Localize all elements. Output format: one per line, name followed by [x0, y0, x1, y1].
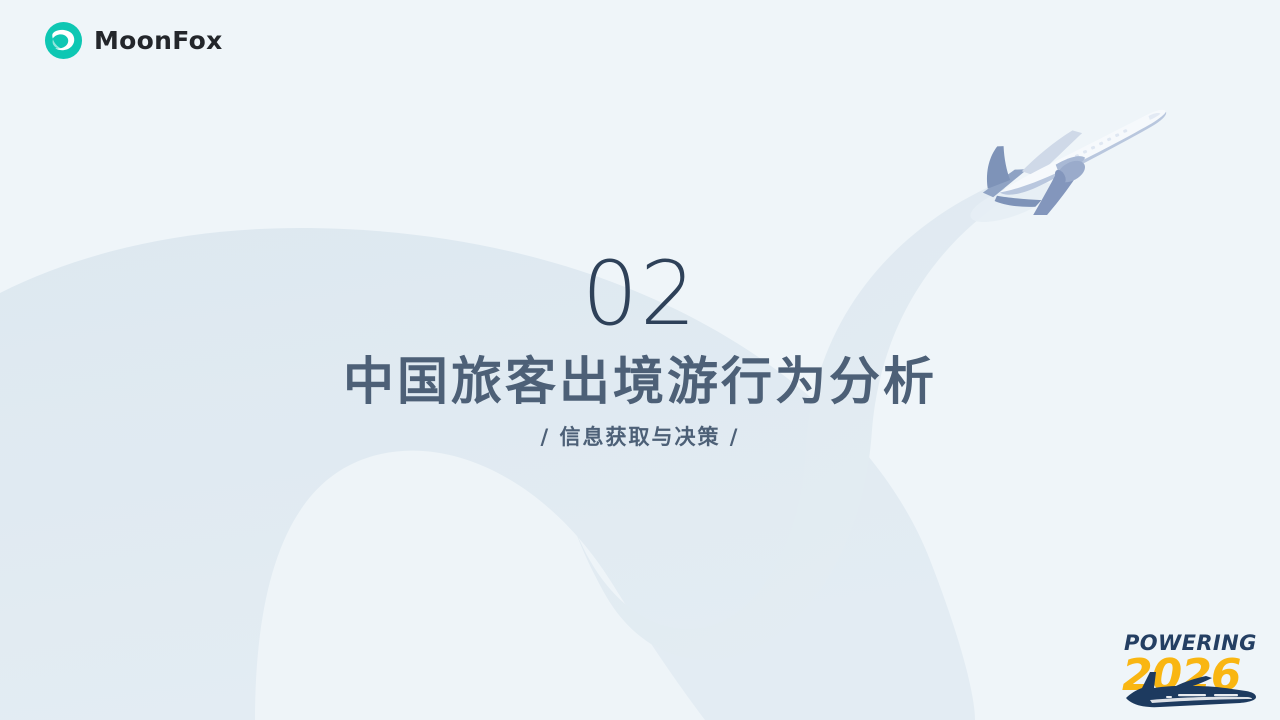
section-text-block: 02 中国旅客出境游行为分析 / 信息获取与决策 /: [0, 250, 1280, 450]
section-number: 02: [0, 250, 1280, 338]
slide-canvas: MoonFox: [0, 0, 1280, 720]
section-subtitle: / 信息获取与决策 /: [0, 425, 1280, 450]
airplane-takeoff-illustration: [963, 103, 1189, 215]
moonfox-circle-swoosh-icon: [44, 21, 83, 60]
background-wave-light: [255, 451, 705, 720]
plane-fuselage: [993, 108, 1175, 201]
brand-logo: MoonFox: [44, 21, 223, 60]
section-title: 中国旅客出境游行为分析: [0, 354, 1280, 411]
powering-2026-badge: POWERING 2026: [1120, 628, 1266, 720]
brand-name: MoonFox: [94, 28, 223, 53]
